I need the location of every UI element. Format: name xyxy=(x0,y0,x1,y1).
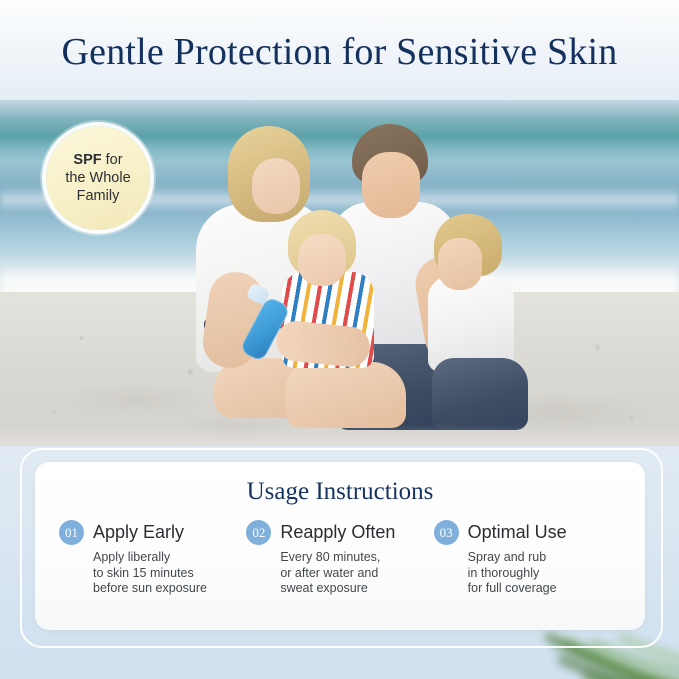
spf-badge-line1-rest: for xyxy=(102,152,123,168)
step-number-badge: 03 xyxy=(434,520,459,545)
step-number-badge: 02 xyxy=(246,520,271,545)
poster-canvas: Gentle Protection for Sensitive Skin xyxy=(0,0,679,679)
panel-title: Usage Instructions xyxy=(35,478,645,506)
step-header: 02 Reapply Often xyxy=(246,520,421,545)
step-number-badge: 01 xyxy=(59,520,84,545)
step-title: Apply Early xyxy=(93,522,184,543)
step-item-03: 03 Optimal Use Spray and rub in thorough… xyxy=(434,520,621,597)
step-item-01: 01 Apply Early Apply liberally to skin 1… xyxy=(59,520,246,597)
page-title: Gentle Protection for Sensitive Skin xyxy=(0,30,679,74)
usage-instructions-panel: Usage Instructions 01 Apply Early Apply … xyxy=(35,462,645,630)
steps-list: 01 Apply Early Apply liberally to skin 1… xyxy=(35,520,645,597)
step-item-02: 02 Reapply Often Every 80 minutes, or af… xyxy=(246,520,433,597)
step-description: Apply liberally to skin 15 minutes befor… xyxy=(93,550,234,597)
step-header: 03 Optimal Use xyxy=(434,520,609,545)
step-title: Reapply Often xyxy=(280,522,395,543)
spf-badge-label: SPF for the Whole Family xyxy=(65,151,130,205)
spf-badge-line1-strong: SPF xyxy=(73,152,101,168)
step-title: Optimal Use xyxy=(468,522,567,543)
step-header: 01 Apply Early xyxy=(59,520,234,545)
step-description: Spray and rub in thoroughly for full cov… xyxy=(468,550,609,597)
spf-badge-line3: Family xyxy=(77,188,120,204)
step-description: Every 80 minutes, or after water and swe… xyxy=(280,550,421,597)
spf-badge: SPF for the Whole Family xyxy=(46,126,150,230)
spf-badge-line2: the Whole xyxy=(65,170,130,186)
